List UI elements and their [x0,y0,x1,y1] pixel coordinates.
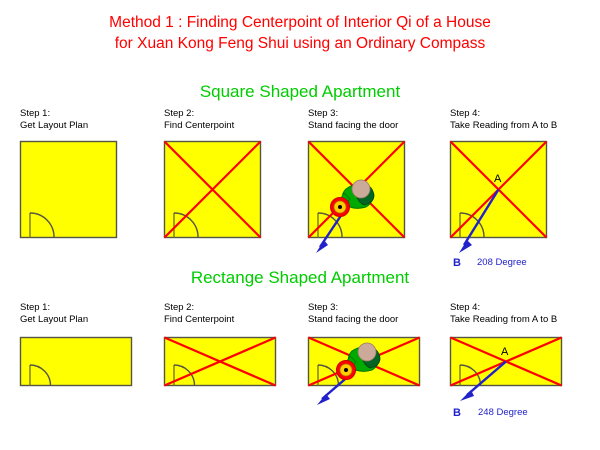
rectangle-step-2-number: Step 2: [164,302,234,314]
diagram-page: Method 1 : Finding Centerpoint of Interi… [0,0,600,450]
square-step-4-number: Step 4: [450,108,557,120]
rectangle-step-1-caption: Step 1: Get Layout Plan [20,302,88,325]
square-step-1-caption: Step 1: Get Layout Plan [20,108,88,131]
square-step-3-caption: Step 3: Stand facing the door [308,108,398,131]
rectangle-step-4-caption: Step 4: Take Reading from A to B [450,302,557,325]
square-step-4-label: Take Reading from A to B [450,120,557,132]
rectangle-step-3-number: Step 3: [308,302,398,314]
square-step-2-figure [164,141,264,241]
rectangle-step-3-label: Stand facing the door [308,314,398,326]
point-a-label: A [501,346,509,358]
page-title-line-2: for Xuan Kong Feng Shui using an Ordinar… [0,33,600,54]
rectangle-step-1-figure [20,337,140,397]
bearing-reading-label: 248 Degree [478,407,528,418]
square-step-1-number: Step 1: [20,108,88,120]
square-step-2-caption: Step 2: Find Centerpoint [164,108,234,131]
rectangle-step-1-label: Get Layout Plan [20,314,88,326]
point-b-label: B [453,407,461,419]
square-step-2-label: Find Centerpoint [164,120,234,132]
rectangle-step-4-label: Take Reading from A to B [450,314,557,326]
rectangle-step-1-number: Step 1: [20,302,88,314]
compass-needle-icon [344,368,348,372]
rectangle-step-2-label: Find Centerpoint [164,314,234,326]
rectangle-step-3-figure [308,337,428,412]
square-step-1-label: Get Layout Plan [20,120,88,132]
section-heading-rectangle: Rectange Shaped Apartment [0,268,600,288]
square-step-2-number: Step 2: [164,108,234,120]
floor-plan-square [21,142,117,238]
square-step-3-number: Step 3: [308,108,398,120]
section-heading-square: Square Shaped Apartment [0,82,600,102]
page-title-line-1: Method 1 : Finding Centerpoint of Interi… [0,12,600,33]
square-step-4-figure: A B 208 Degree [450,141,570,266]
square-step-1-figure [20,141,120,241]
compass-needle-icon [338,205,342,209]
square-step-3-figure [308,141,418,259]
facing-direction-arrowhead-icon [317,394,330,405]
bearing-reading-label: 208 Degree [477,257,527,268]
rectangle-step-2-caption: Step 2: Find Centerpoint [164,302,234,325]
page-title: Method 1 : Finding Centerpoint of Interi… [0,12,600,54]
point-a-label: A [494,173,502,185]
square-step-3-label: Stand facing the door [308,120,398,132]
rectangle-step-2-figure [164,337,284,397]
square-step-4-caption: Step 4: Take Reading from A to B [450,108,557,131]
floor-plan-rectangle [21,338,132,386]
rectangle-step-4-number: Step 4: [450,302,557,314]
rectangle-step-4-figure: A B 248 Degree [450,337,580,417]
rectangle-step-3-caption: Step 3: Stand facing the door [308,302,398,325]
